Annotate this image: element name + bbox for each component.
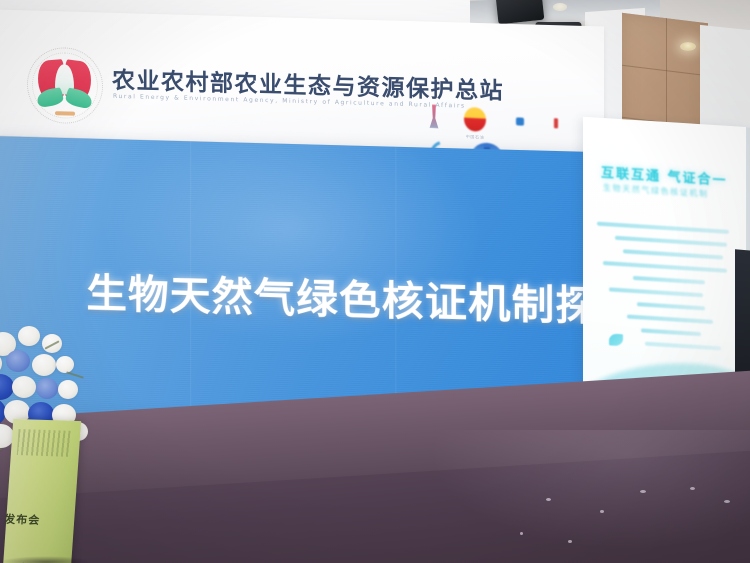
floor-light-reflection bbox=[430, 430, 750, 550]
red-bar-logo-icon bbox=[554, 118, 558, 128]
vase-shadow bbox=[0, 556, 92, 563]
ministry-emblem-icon bbox=[27, 46, 103, 124]
conference-stage-photo: 农业农村部农业生态与资源保护总站 Rural Energy & Environm… bbox=[0, 0, 750, 563]
ceiling-downlight-secondary-icon bbox=[553, 3, 567, 11]
vase-label: 发布会 bbox=[4, 511, 41, 528]
ceiling-downlight-icon bbox=[680, 42, 696, 51]
flower-vase: 发布会 沼 bbox=[3, 419, 81, 563]
blue-square-logo-icon bbox=[516, 117, 524, 125]
